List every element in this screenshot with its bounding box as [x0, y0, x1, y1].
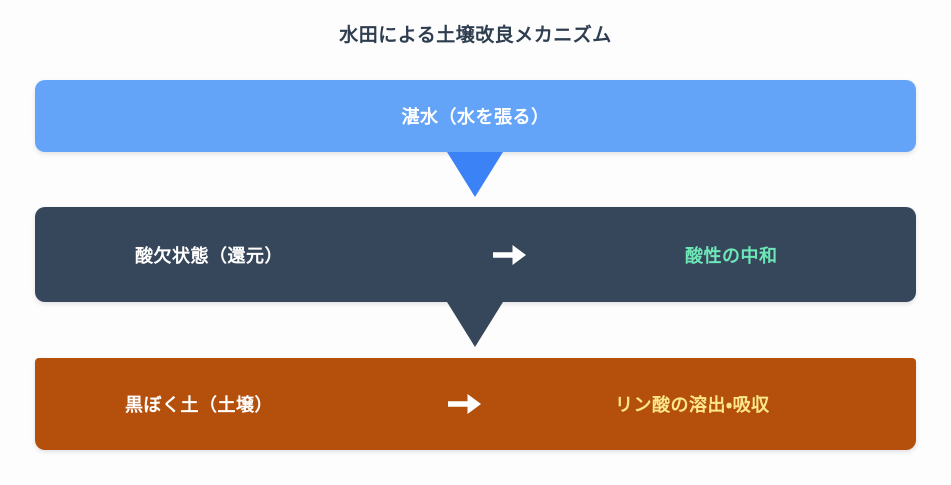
right-arrow-icon: [480, 244, 540, 266]
connector-arrow-anoxic-to-soil: [447, 302, 503, 347]
connector-arrow-water-to-anoxic: [447, 152, 503, 197]
page-title: 水田による土壌改良メカニズム: [0, 23, 951, 49]
stage-anoxic-result: 酸性の中和: [685, 242, 778, 268]
right-arrow-icon: [435, 393, 495, 415]
stage-anoxic-label: 酸欠状態（還元）: [135, 242, 283, 268]
diagram-canvas: 水田による土壌改良メカニズム 湛水（水を張る） 酸欠状態（還元） 酸性の中和 黒…: [0, 0, 951, 485]
stage-water-label: 湛水（水を張る）: [402, 103, 550, 129]
stage-water: 湛水（水を張る）: [35, 80, 916, 152]
stage-anoxic: 酸欠状態（還元） 酸性の中和: [35, 207, 916, 302]
stage-soil-result: リン酸の溶出・吸収: [615, 391, 770, 417]
stage-soil: 黒ぼく土（土壌） リン酸の溶出・吸収: [35, 358, 916, 450]
stage-soil-label: 黒ぼく土（土壌）: [125, 391, 273, 417]
